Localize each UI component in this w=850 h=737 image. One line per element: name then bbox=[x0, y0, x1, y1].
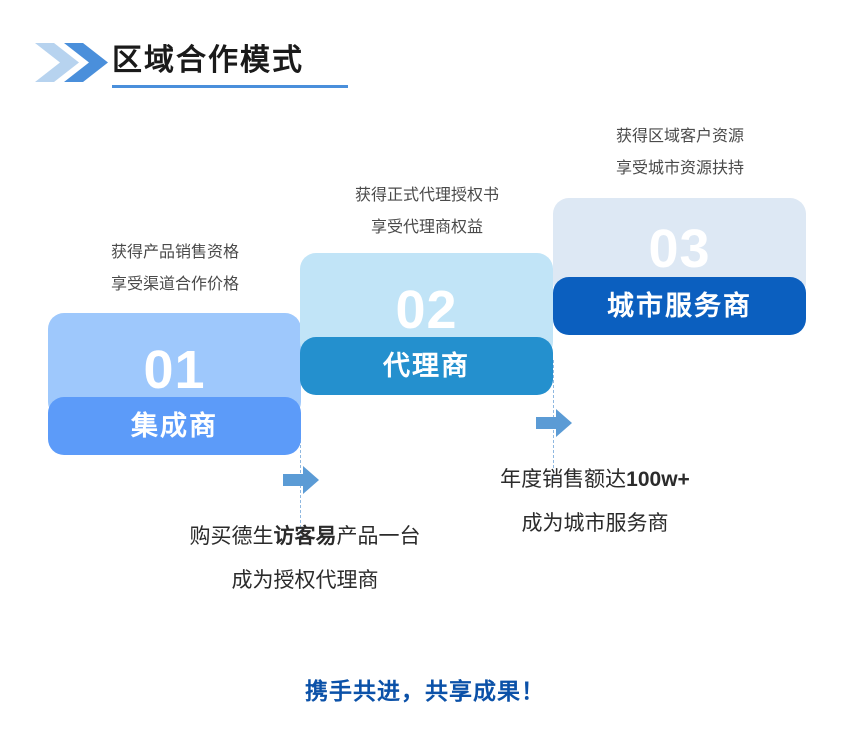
step-number-03: 03 bbox=[553, 220, 806, 278]
step-benefits-01: 获得产品销售资格 享受渠道合作价格 bbox=[35, 237, 315, 301]
benefit-line: 享受代理商权益 bbox=[287, 212, 567, 244]
step-number-01: 01 bbox=[48, 341, 301, 399]
footer-slogan: 携手共进，共享成果！ bbox=[0, 672, 850, 706]
requirement-line-1: 购买德生访客易产品一台 bbox=[135, 515, 475, 559]
step-label-01: 集成商 bbox=[48, 397, 301, 455]
step-requirement-1: 购买德生访客易产品一台 成为授权代理商 bbox=[135, 515, 475, 603]
step-requirement-2: 年度销售额达100w+ 成为城市服务商 bbox=[425, 458, 765, 546]
requirement-line-1: 年度销售额达100w+ bbox=[425, 458, 765, 502]
benefit-line: 享受城市资源扶持 bbox=[540, 153, 820, 185]
step-label-02: 代理商 bbox=[300, 337, 553, 395]
benefit-line: 享受渠道合作价格 bbox=[35, 269, 315, 301]
requirement-line-2: 成为城市服务商 bbox=[425, 502, 765, 546]
requirement-line-2: 成为授权代理商 bbox=[135, 559, 475, 603]
requirement-text-post: 产品一台 bbox=[337, 525, 421, 548]
step-cards-group: 获得产品销售资格 享受渠道合作价格 获得正式代理授权书 享受代理商权益 获得区域… bbox=[0, 0, 850, 737]
step-number-02: 02 bbox=[300, 281, 553, 339]
requirement-text-pre: 购买德生 bbox=[190, 525, 274, 548]
benefit-line: 获得区域客户资源 bbox=[540, 121, 820, 153]
step-benefits-03: 获得区域客户资源 享受城市资源扶持 bbox=[540, 121, 820, 185]
requirement-text-bold: 访客易 bbox=[274, 525, 337, 548]
step-label-03: 城市服务商 bbox=[553, 277, 806, 335]
requirement-text-bold: 100w+ bbox=[626, 468, 690, 491]
requirement-text-pre: 年度销售额达 bbox=[500, 468, 626, 491]
step-benefits-02: 获得正式代理授权书 享受代理商权益 bbox=[287, 180, 567, 244]
benefit-line: 获得正式代理授权书 bbox=[287, 180, 567, 212]
benefit-line: 获得产品销售资格 bbox=[35, 237, 315, 269]
arrow-right-icon-2 bbox=[536, 409, 572, 437]
arrow-right-icon-1 bbox=[283, 466, 319, 494]
